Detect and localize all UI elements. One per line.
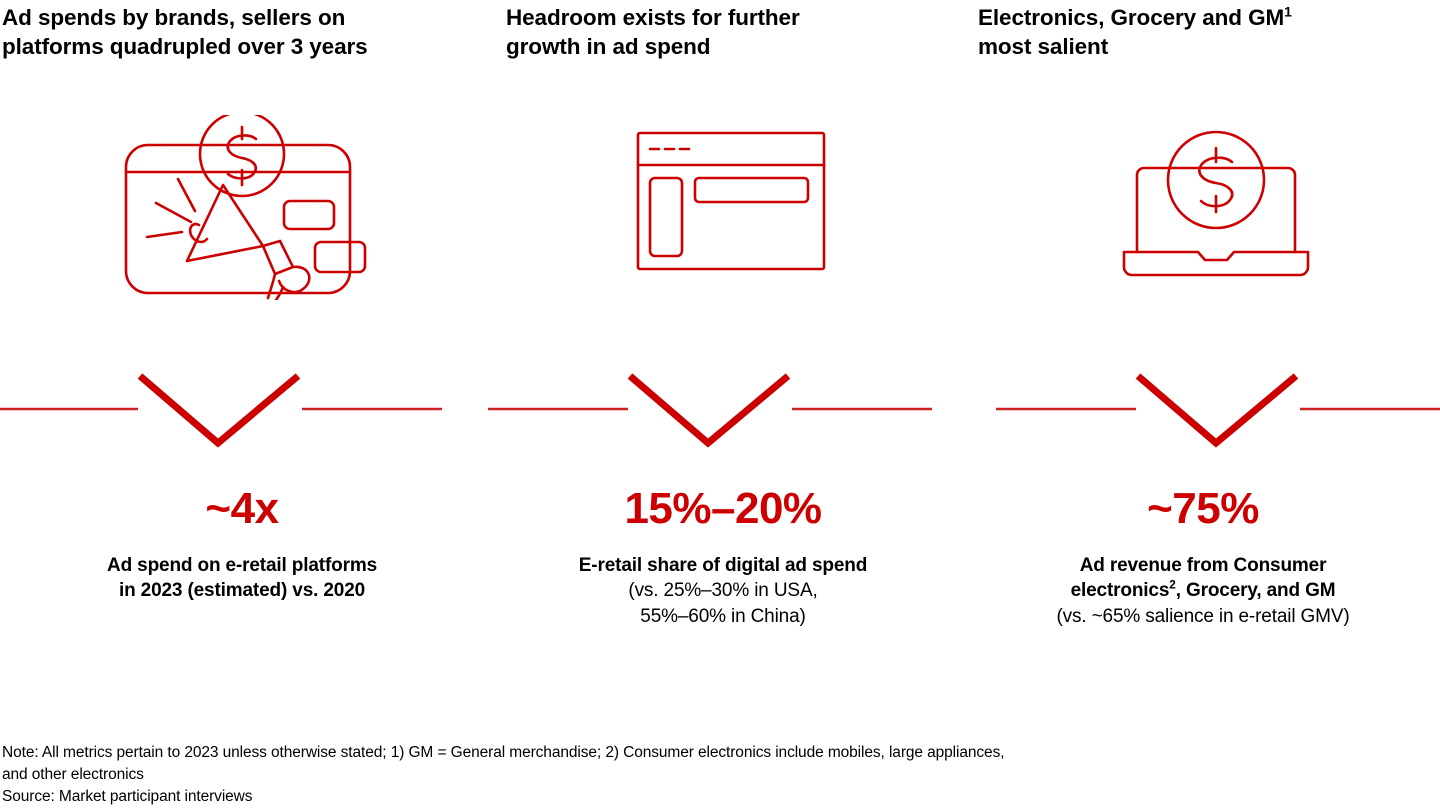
stat-label-2-line1: E-retail share of digital ad spend xyxy=(579,555,867,576)
megaphone-ad-dollar-icon xyxy=(117,115,367,300)
stat-label-3: Ad revenue from Consumer electronics2, G… xyxy=(966,553,1440,604)
laptop-dollar-icon xyxy=(1106,120,1326,295)
stat-label-3-line1: Ad revenue from Consumer xyxy=(1080,555,1327,576)
icon-megaphone-ad-dollar xyxy=(2,110,482,305)
column-title-1-line1: Ad spends by brands, sellers on xyxy=(2,5,345,30)
column-title-2: Headroom exists for further growth in ad… xyxy=(480,0,960,62)
column-title-3-line2: most salient xyxy=(978,34,1108,59)
column-title-2-line1: Headroom exists for further xyxy=(506,5,800,30)
stat-sub-3-line1: (vs. ~65% salience in e-retail GMV) xyxy=(1056,606,1349,627)
stat-label-1-line1: Ad spend on e-retail platforms xyxy=(107,555,377,576)
chevron-1 xyxy=(140,376,298,443)
footnotes: Note: All metrics pertain to 2023 unless… xyxy=(2,742,1432,808)
stat-label-1: Ad spend on e-retail platforms in 2023 (… xyxy=(4,553,480,604)
stat-label-3-line2-post: , Grocery, and GM xyxy=(1176,580,1336,601)
stat-value-1: ~4x xyxy=(4,487,480,531)
stat-block-2: 15%–20% E-retail share of digital ad spe… xyxy=(480,487,960,629)
stat-sub-2: (vs. 25%–30% in USA, 55%–60% in China) xyxy=(486,578,960,629)
stat-sub-2-line1: (vs. 25%–30% in USA, xyxy=(628,580,817,601)
stat-value-2: 15%–20% xyxy=(486,487,960,531)
chevron-divider-svg xyxy=(0,367,1440,449)
icon-laptop-dollar xyxy=(976,110,1440,305)
footnote-note-line1: Note: All metrics pertain to 2023 unless… xyxy=(2,742,1432,764)
icon-browser-window-layout xyxy=(498,110,978,305)
stat-label-1-line2: in 2023 (estimated) vs. 2020 xyxy=(119,580,365,601)
footnote-source-line: Source: Market participant interviews xyxy=(2,786,1432,808)
stat-sub-2-line2: 55%–60% in China) xyxy=(640,606,805,627)
column-title-3: Electronics, Grocery and GM1 most salien… xyxy=(960,0,1440,62)
column-container: Ad spends by brands, sellers on platform… xyxy=(0,0,1440,62)
stat-block-3: ~75% Ad revenue from Consumer electronic… xyxy=(960,487,1440,629)
stats-container: ~4x Ad spend on e-retail platforms in 20… xyxy=(0,487,1440,629)
chevron-3 xyxy=(1138,376,1296,443)
column-title-1-line2: platforms quadrupled over 3 years xyxy=(2,34,368,59)
column-ad-spend-growth: Ad spends by brands, sellers on platform… xyxy=(0,0,480,62)
column-category-salience: Electronics, Grocery and GM1 most salien… xyxy=(960,0,1440,62)
stat-label-2: E-retail share of digital ad spend xyxy=(486,553,960,578)
column-title-2-line2: growth in ad spend xyxy=(506,34,710,59)
footnote-note-line2: and other electronics xyxy=(2,764,1432,786)
column-title-3-line1: Electronics, Grocery and GM xyxy=(978,5,1284,30)
stat-block-1: ~4x Ad spend on e-retail platforms in 20… xyxy=(0,487,480,629)
column-title-1: Ad spends by brands, sellers on platform… xyxy=(0,0,480,62)
stat-label-3-line2-pre: electronics xyxy=(1071,580,1170,601)
browser-window-layout-icon xyxy=(633,128,843,288)
column-title-3-footnote-marker: 1 xyxy=(1284,4,1292,20)
stat-sub-3: (vs. ~65% salience in e-retail GMV) xyxy=(966,604,1440,629)
column-headroom-ad-spend: Headroom exists for further growth in ad… xyxy=(480,0,960,62)
stat-value-3: ~75% xyxy=(966,487,1440,531)
chevron-divider xyxy=(0,367,1440,449)
chevron-2 xyxy=(630,376,788,443)
infographic-page: Ad spends by brands, sellers on platform… xyxy=(0,0,1440,810)
